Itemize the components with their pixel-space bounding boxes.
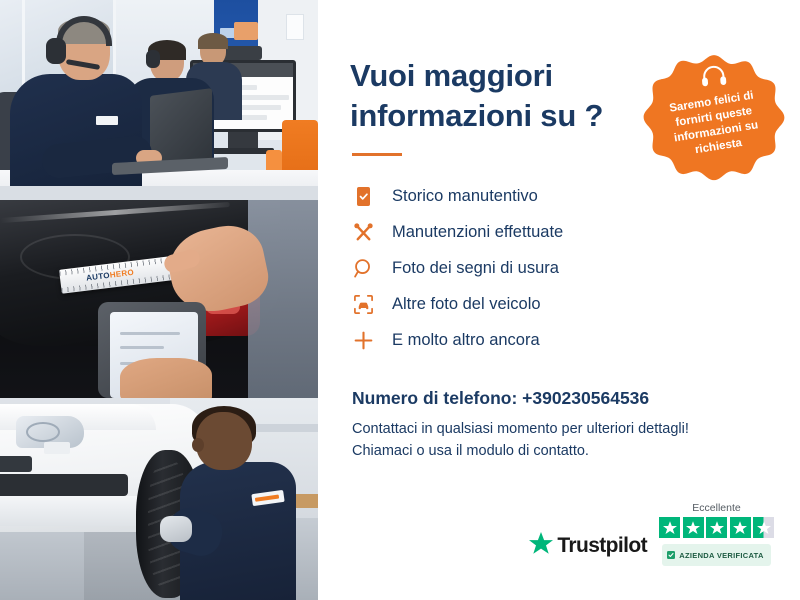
photo-autohero-inspection: AUTOHERO: [0, 200, 318, 398]
trustpilot-rating-block: Eccellente AZIENDA VERIFICATA: [659, 502, 774, 566]
features-list: Storico manutentivo Manutenzioni effettu…: [352, 178, 766, 358]
star-filled: [730, 517, 751, 538]
list-item: Altre foto del veicolo: [352, 286, 766, 322]
clipboard-check-icon: [352, 185, 374, 207]
content-panel: Vuoi maggiori informazioni su ? Storico …: [318, 0, 800, 600]
badge-text: Saremo felici di fornirti queste informa…: [652, 86, 778, 164]
car-scan-icon: [352, 293, 374, 315]
promo-banner: AUTOHERO: [0, 0, 800, 600]
trustpilot-stars: [659, 517, 774, 538]
contact-text: Contattaci in qualsiasi momento per ulte…: [352, 419, 766, 463]
page-title: Vuoi maggiori informazioni su ?: [350, 56, 640, 135]
star-filled: [683, 517, 704, 538]
contact-line-1: Contattaci in qualsiasi momento per ulte…: [352, 419, 766, 441]
verified-badge: AZIENDA VERIFICATA: [662, 544, 770, 566]
verified-label: AZIENDA VERIFICATA: [679, 551, 763, 560]
promo-badge: Saremo felici di fornirti queste informa…: [638, 42, 790, 194]
star-filled: [706, 517, 727, 538]
trustpilot-brand: Trustpilot: [529, 532, 647, 566]
photo-call-center: [0, 0, 318, 200]
contact-line-2: Chiamaci o usa il modulo di contatto.: [352, 441, 766, 463]
tools-icon: [352, 221, 374, 243]
list-item: Manutenzioni effettuate: [352, 214, 766, 250]
trustpilot-rating-label: Eccellente: [692, 502, 740, 514]
trustpilot-widget[interactable]: Trustpilot Eccellente AZIENDA VERIFICATA: [529, 502, 774, 566]
list-item: E molto altro ancora: [352, 322, 766, 358]
photo-column: AUTOHERO: [0, 0, 318, 600]
list-item-label: Foto dei segni di usura: [392, 259, 559, 278]
list-item-label: Storico manutentivo: [392, 187, 538, 206]
badge-content: Saremo felici di fornirti queste informa…: [627, 31, 800, 205]
plus-icon: [352, 329, 374, 351]
trustpilot-wordmark: Trustpilot: [557, 534, 647, 558]
magnifier-icon: [352, 257, 374, 279]
list-item-label: Altre foto del veicolo: [392, 295, 541, 314]
title-divider: [352, 153, 402, 156]
list-item: Foto dei segni di usura: [352, 250, 766, 286]
list-item-label: E molto altro ancora: [392, 331, 540, 350]
star-half: [753, 517, 774, 538]
list-item-label: Manutenzioni effettuate: [392, 223, 563, 242]
star-filled: [659, 517, 680, 538]
verified-check-icon: [667, 546, 675, 564]
photo-mechanic-tire: [0, 398, 318, 600]
trustpilot-star-icon: [529, 532, 553, 560]
phone-number[interactable]: Numero di telefono: +390230564536: [352, 388, 766, 409]
